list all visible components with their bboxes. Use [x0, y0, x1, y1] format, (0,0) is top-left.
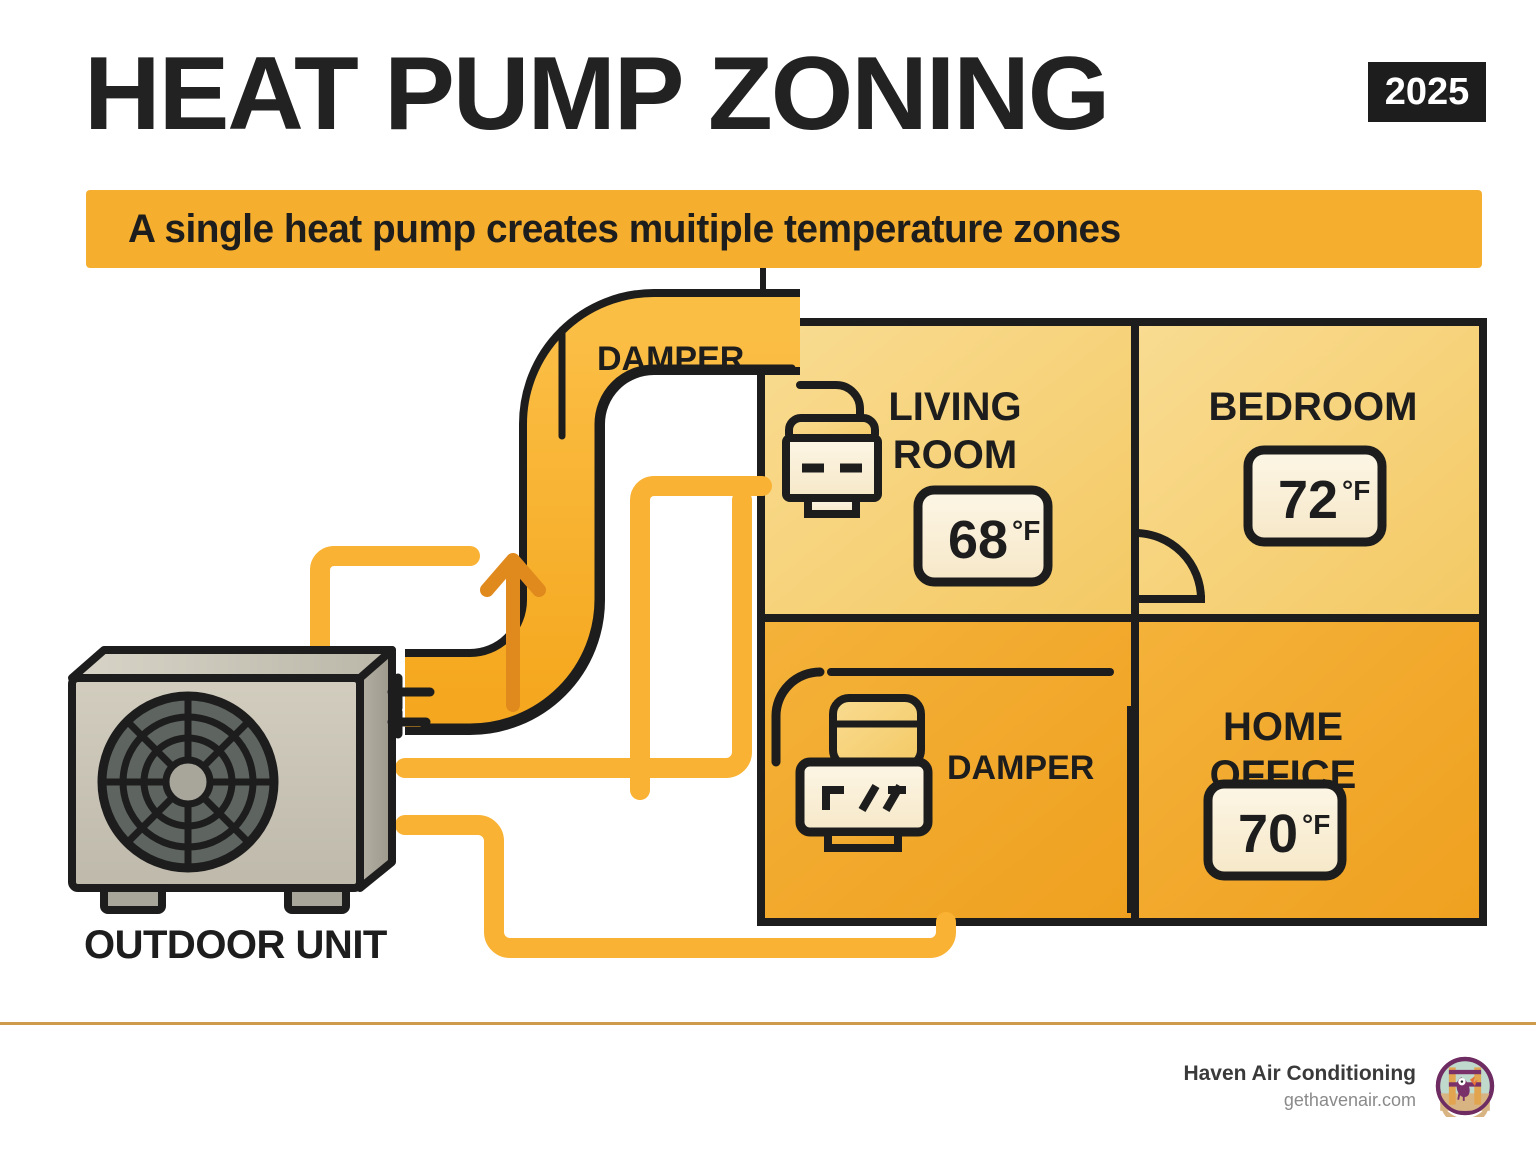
outdoor-unit[interactable] — [72, 650, 430, 910]
fan-grille-icon — [102, 696, 274, 868]
footer: Haven Air Conditioning gethavenair.com — [1183, 1055, 1496, 1117]
unit-foot-right — [288, 888, 346, 910]
zoning-diagram: OUTDOOR UNIT DAMPER LIVING ROOM 68 °F BE… — [0, 0, 1536, 1030]
temperature-living-room: 68 — [948, 510, 1008, 570]
temperature-unit-home-office: °F — [1302, 809, 1330, 840]
temperature-unit-bedroom: °F — [1342, 475, 1370, 506]
brand-url: gethavenair.com — [1183, 1088, 1416, 1112]
zone-label-living-room-line2: ROOM — [893, 433, 1017, 477]
temperature-bedroom: 72 — [1278, 470, 1338, 530]
outdoor-unit-label: OUTDOOR UNIT — [84, 923, 387, 967]
thermostat-bedroom[interactable]: 72 °F — [1248, 450, 1382, 542]
temperature-unit-living-room: °F — [1012, 515, 1040, 546]
brand-name: Haven Air Conditioning — [1183, 1060, 1416, 1088]
temperature-home-office: 70 — [1238, 804, 1298, 864]
vent-register-icon[interactable] — [786, 418, 878, 514]
infographic-page: HEAT PUMP ZONING 2025 A single heat pump… — [0, 0, 1536, 1154]
thermostat-living-room[interactable]: 68 °F — [918, 490, 1048, 582]
footer-divider — [0, 1022, 1536, 1025]
haven-monogram-logo — [1434, 1055, 1496, 1117]
unit-foot-left — [104, 888, 162, 910]
zone-label-bedroom: BEDROOM — [1209, 385, 1418, 429]
zone-label-home-office-line1: HOME — [1223, 705, 1343, 749]
thermostat-home-office[interactable]: 70 °F — [1208, 784, 1342, 876]
damper-top-label: DAMPER — [597, 340, 744, 378]
damper-bottom-label: DAMPER — [947, 749, 1094, 787]
zone-label-living-room-line1: LIVING — [888, 385, 1021, 429]
